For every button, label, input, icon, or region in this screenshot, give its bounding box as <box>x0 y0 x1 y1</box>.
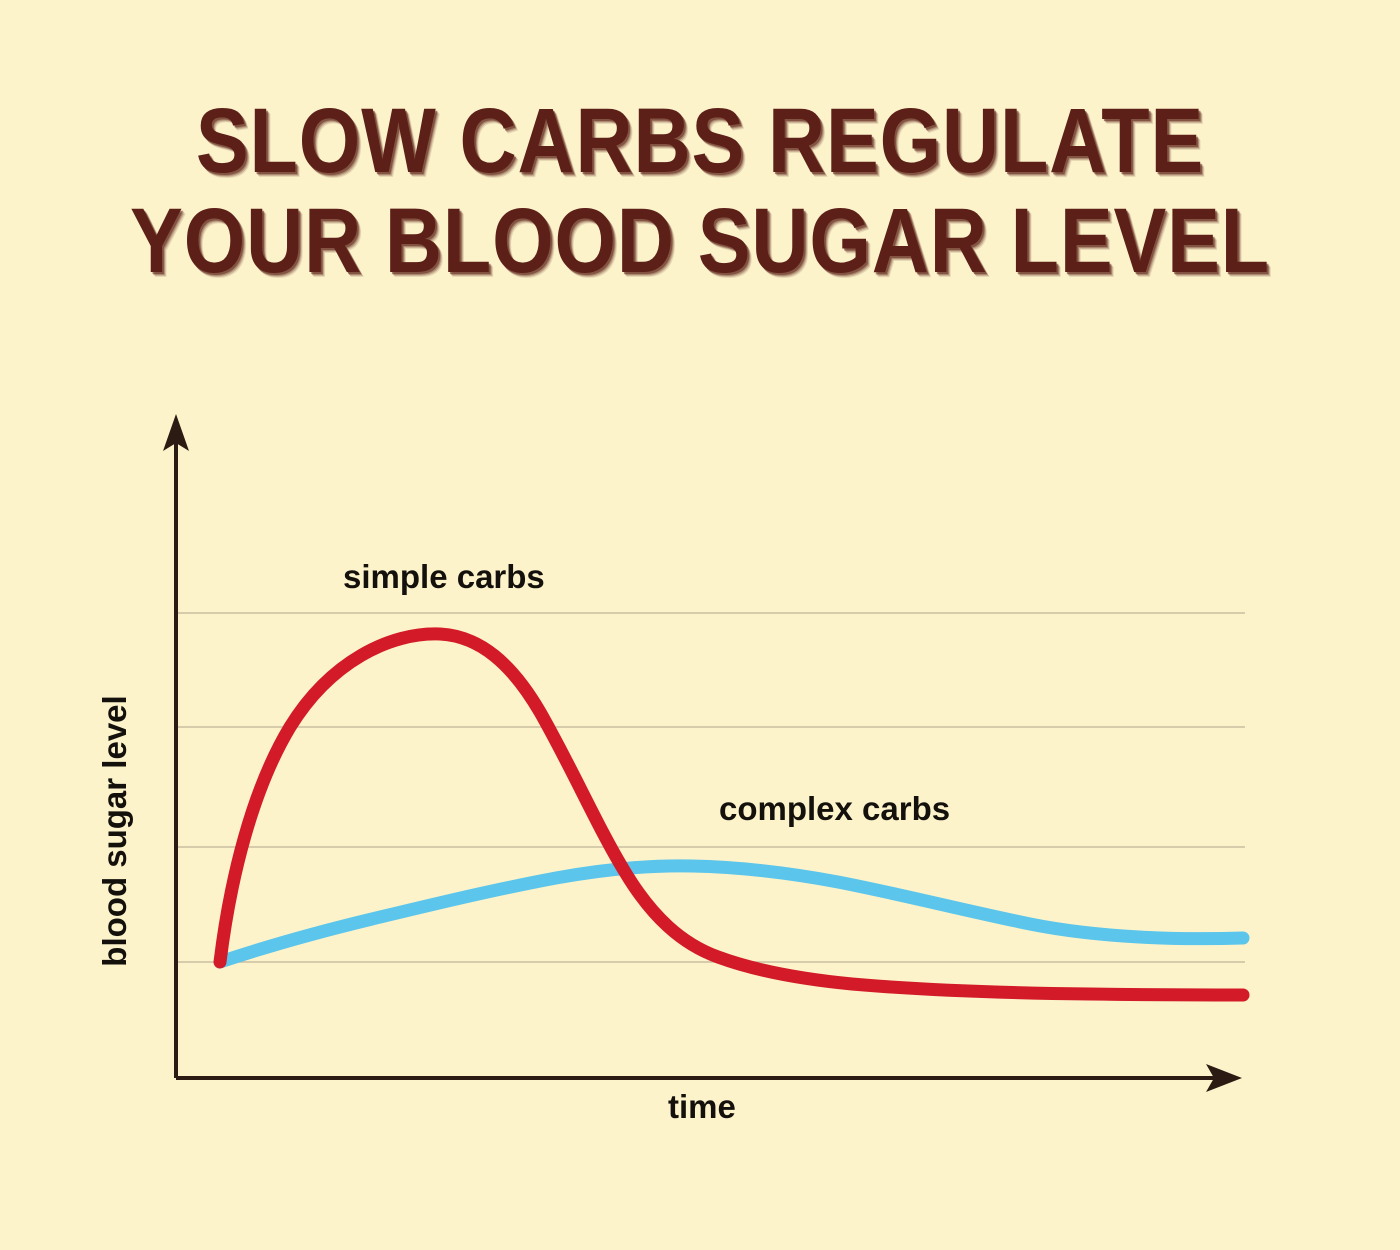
chart-svg <box>0 0 1400 1250</box>
annotation-simple-carbs: simple carbs <box>343 558 545 596</box>
series-line-complex-carbs <box>220 866 1243 962</box>
infographic-canvas: SLOW CARBS REGULATE YOUR BLOOD SUGAR LEV… <box>0 0 1400 1250</box>
blood-sugar-line-chart: simple carbs complex carbs time blood su… <box>0 0 1400 1250</box>
annotation-complex-carbs: complex carbs <box>719 790 950 828</box>
x-axis-label: time <box>668 1088 736 1126</box>
y-axis-label: blood sugar level <box>96 681 134 981</box>
